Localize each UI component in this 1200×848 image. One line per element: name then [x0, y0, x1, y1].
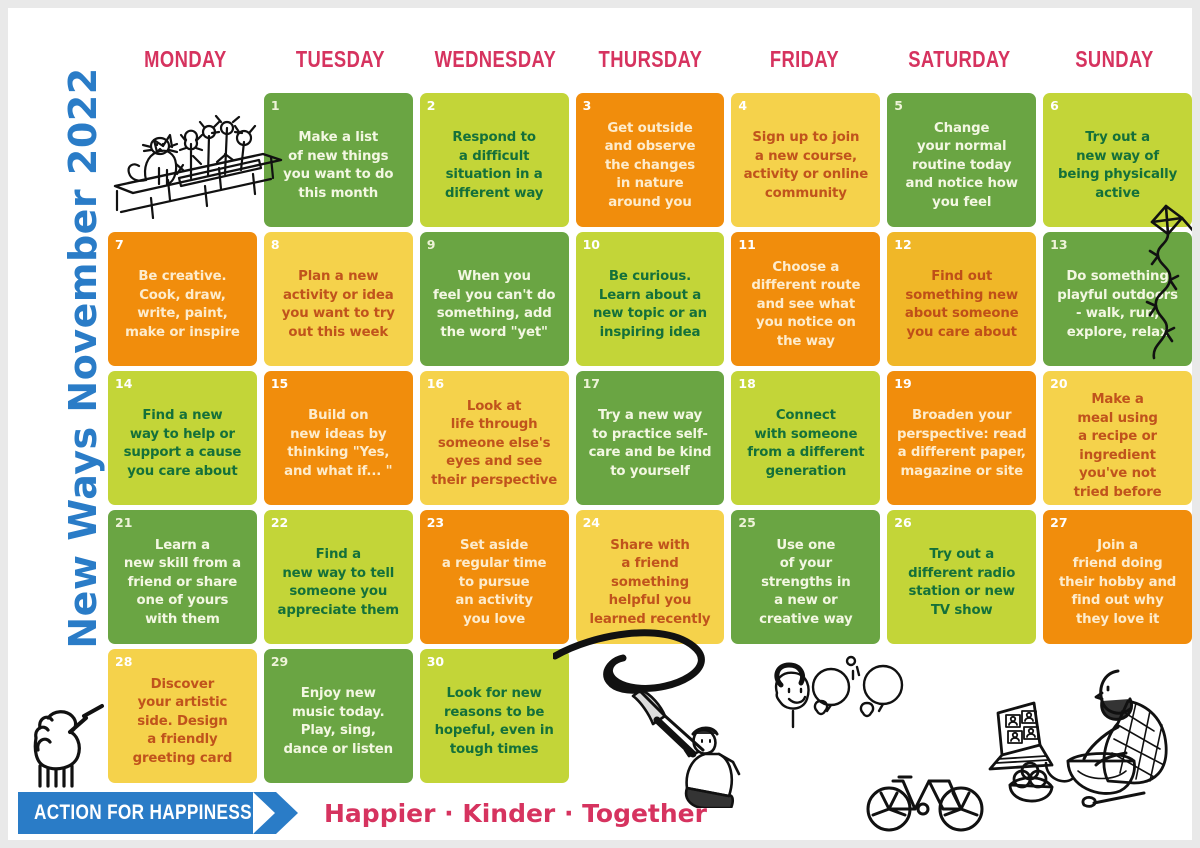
day-action-text: Sign up to join a new course, activity o…	[738, 113, 873, 219]
day-cell-24[interactable]: 24Share with a friend something helpful …	[576, 510, 725, 644]
day-header-row: MONDAYTUESDAYWEDNESDAYTHURSDAYFRIDAYSATU…	[108, 46, 1192, 84]
day-action-text: Find a new way to tell someone you appre…	[271, 530, 406, 636]
day-number: 6	[1050, 99, 1185, 112]
day-number: 5	[894, 99, 1029, 112]
day-action-text: Join a friend doing their hobby and find…	[1050, 530, 1185, 636]
day-number: 2	[427, 99, 562, 112]
day-action-text: Broaden your perspective: read a differe…	[894, 391, 1029, 497]
day-cell-20[interactable]: 20Make a meal using a recipe or ingredie…	[1043, 371, 1192, 505]
day-header-friday: FRIDAY	[743, 46, 867, 84]
day-action-text: Try out a new way of being physically ac…	[1050, 113, 1185, 219]
day-action-text: Try out a different radio station or new…	[894, 530, 1029, 636]
day-action-text: Build on new ideas by thinking "Yes, and…	[271, 391, 406, 497]
day-cell-6[interactable]: 6Try out a new way of being physically a…	[1043, 93, 1192, 227]
calendar-grid: 1Make a list of new things you want to d…	[108, 93, 1192, 783]
title-rail: New Ways November 2022	[8, 8, 108, 708]
day-action-text: Use one of your strengths in a new or cr…	[738, 530, 873, 636]
day-action-text: Enjoy new music today. Play, sing, dance…	[271, 669, 406, 775]
day-action-text: Connect with someone from a different ge…	[738, 391, 873, 497]
day-cell-25[interactable]: 25Use one of your strengths in a new or …	[731, 510, 880, 644]
day-action-text: Be curious. Learn about a new topic or a…	[583, 252, 718, 358]
day-number: 23	[427, 516, 562, 529]
day-number: 15	[271, 377, 406, 390]
day-action-text: Find a new way to help or support a caus…	[115, 391, 250, 497]
day-number: 22	[271, 516, 406, 529]
day-number: 29	[271, 655, 406, 668]
day-cell-12[interactable]: 12Find out something new about someone y…	[887, 232, 1036, 366]
day-header-monday: MONDAY	[123, 46, 247, 84]
day-cell-28[interactable]: 28Discover your artistic side. Design a …	[108, 649, 257, 783]
day-action-text: Choose a different route and see what yo…	[738, 252, 873, 358]
day-cell-2[interactable]: 2Respond to a difficult situation in a d…	[420, 93, 569, 227]
day-header-wednesday: WEDNESDAY	[433, 46, 557, 84]
day-action-text: Set aside a regular time to pursue an ac…	[427, 530, 562, 636]
day-cell-30[interactable]: 30Look for new reasons to be hopeful, ev…	[420, 649, 569, 783]
day-number: 24	[583, 516, 718, 529]
day-action-text: Get outside and observe the changes in n…	[583, 113, 718, 219]
day-number: 26	[894, 516, 1029, 529]
day-number: 3	[583, 99, 718, 112]
day-cell-21[interactable]: 21Learn a new skill from a friend or sha…	[108, 510, 257, 644]
action-for-happiness-banner[interactable]: ACTION FOR HAPPINESS	[18, 792, 276, 834]
day-action-text: Plan a new activity or idea you want to …	[271, 252, 406, 358]
day-action-text: Share with a friend something helpful yo…	[583, 530, 718, 636]
day-action-text: Look for new reasons to be hopeful, even…	[427, 669, 562, 775]
day-number: 20	[1050, 377, 1185, 390]
day-action-text: Make a list of new things you want to do…	[271, 113, 406, 219]
day-number: 17	[583, 377, 718, 390]
day-action-text: Change your normal routine today and not…	[894, 113, 1029, 219]
day-cell-11[interactable]: 11Choose a different route and see what …	[731, 232, 880, 366]
day-cell-27[interactable]: 27Join a friend doing their hobby and fi…	[1043, 510, 1192, 644]
day-action-text: Try a new way to practice self- care and…	[583, 391, 718, 497]
banner-notch-icon	[253, 792, 275, 834]
day-cell-1[interactable]: 1Make a list of new things you want to d…	[264, 93, 413, 227]
day-number: 1	[271, 99, 406, 112]
day-number: 16	[427, 377, 562, 390]
day-action-text: When you feel you can't do something, ad…	[427, 252, 562, 358]
day-cell-3[interactable]: 3Get outside and observe the changes in …	[576, 93, 725, 227]
day-action-text: Discover your artistic side. Design a fr…	[115, 669, 250, 775]
day-cell-14[interactable]: 14Find a new way to help or support a ca…	[108, 371, 257, 505]
day-cell-4[interactable]: 4Sign up to join a new course, activity …	[731, 93, 880, 227]
day-cell-22[interactable]: 22Find a new way to tell someone you app…	[264, 510, 413, 644]
day-number: 30	[427, 655, 562, 668]
day-number: 14	[115, 377, 250, 390]
day-cell-23[interactable]: 23Set aside a regular time to pursue an …	[420, 510, 569, 644]
day-cell-19[interactable]: 19Broaden your perspective: read a diffe…	[887, 371, 1036, 505]
day-number: 8	[271, 238, 406, 251]
day-number: 10	[583, 238, 718, 251]
day-number: 28	[115, 655, 250, 668]
illustration-slot	[887, 649, 1036, 783]
day-header-saturday: SATURDAY	[898, 46, 1022, 84]
day-number: 11	[738, 238, 873, 251]
day-number: 12	[894, 238, 1029, 251]
day-cell-8[interactable]: 8Plan a new activity or idea you want to…	[264, 232, 413, 366]
day-cell-26[interactable]: 26Try out a different radio station or n…	[887, 510, 1036, 644]
day-action-text: Look at life through someone else's eyes…	[427, 391, 562, 497]
illustration-slot	[731, 649, 880, 783]
day-action-text: Respond to a difficult situation in a di…	[427, 113, 562, 219]
hand-with-pen-icon	[26, 698, 106, 788]
day-number: 21	[115, 516, 250, 529]
day-action-text: Be creative. Cook, draw, write, paint, m…	[115, 252, 250, 358]
day-number: 19	[894, 377, 1029, 390]
day-action-text: Learn a new skill from a friend or share…	[115, 530, 250, 636]
day-number: 27	[1050, 516, 1185, 529]
day-cell-13[interactable]: 13Do something playful outdoors - walk, …	[1043, 232, 1192, 366]
tagline: Happier · Kinder · Together	[324, 792, 707, 834]
illustration-slot	[108, 93, 257, 227]
day-number: 13	[1050, 238, 1185, 251]
day-cell-5[interactable]: 5Change your normal routine today and no…	[887, 93, 1036, 227]
day-number: 4	[738, 99, 873, 112]
day-number: 18	[738, 377, 873, 390]
day-cell-9[interactable]: 9When you feel you can't do something, a…	[420, 232, 569, 366]
day-action-text: Make a meal using a recipe or ingredient…	[1050, 391, 1185, 502]
day-header-sunday: SUNDAY	[1053, 46, 1177, 84]
page-title: New Ways November 2022	[61, 28, 105, 688]
day-header-thursday: THURSDAY	[588, 46, 712, 84]
calendar-page: New Ways November 2022 MONDAYTUESDAYWEDN…	[8, 8, 1192, 840]
day-cell-29[interactable]: 29Enjoy new music today. Play, sing, dan…	[264, 649, 413, 783]
footer-bar: ACTION FOR HAPPINESS Happier · Kinder · …	[8, 788, 1192, 840]
day-number: 25	[738, 516, 873, 529]
day-cell-7[interactable]: 7Be creative. Cook, draw, write, paint, …	[108, 232, 257, 366]
banner-arrow-icon	[276, 792, 298, 834]
day-action-text: Do something playful outdoors - walk, ru…	[1050, 252, 1185, 358]
day-cell-10[interactable]: 10Be curious. Learn about a new topic or…	[576, 232, 725, 366]
banner-label: ACTION FOR HAPPINESS	[34, 801, 252, 825]
day-cell-17[interactable]: 17Try a new way to practice self- care a…	[576, 371, 725, 505]
day-cell-15[interactable]: 15Build on new ideas by thinking "Yes, a…	[264, 371, 413, 505]
day-header-tuesday: TUESDAY	[278, 46, 402, 84]
day-number: 7	[115, 238, 250, 251]
day-action-text: Find out something new about someone you…	[894, 252, 1029, 358]
day-cell-16[interactable]: 16Look at life through someone else's ey…	[420, 371, 569, 505]
day-number: 9	[427, 238, 562, 251]
day-cell-18[interactable]: 18Connect with someone from a different …	[731, 371, 880, 505]
illustration-slot	[576, 649, 725, 783]
illustration-slot	[1043, 649, 1192, 783]
